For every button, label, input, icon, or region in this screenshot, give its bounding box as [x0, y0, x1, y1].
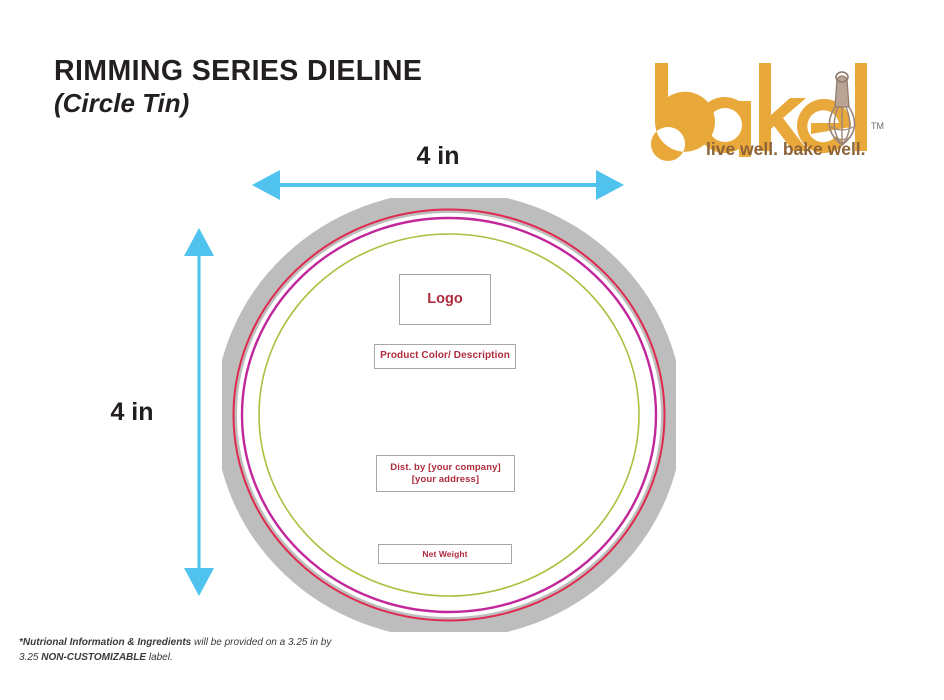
trademark-symbol: TM — [871, 121, 884, 131]
net-weight-box[interactable]: Net Weight — [378, 544, 512, 564]
title-block: RIMMING SERIES DIELINE (Circle Tin) — [54, 56, 514, 119]
footnote: *Nutrional Information & Ingredients wil… — [19, 636, 349, 665]
whisk-icon — [829, 72, 854, 145]
page-subtitle: (Circle Tin) — [54, 89, 514, 119]
product-description-label: Product Color/ Description — [380, 350, 510, 363]
net-weight-label: Net Weight — [422, 549, 467, 560]
logo-placeholder-label: Logo — [427, 290, 462, 308]
footnote-text-1: will be provided on a — [191, 637, 285, 648]
distributor-box[interactable]: Dist. by [your company] [your address] — [376, 455, 515, 492]
dieline-circle — [222, 198, 676, 632]
bakell-logo: live well. bake well. TM — [641, 55, 893, 165]
distributor-line-2: [your address] — [412, 474, 479, 485]
product-description-box[interactable]: Product Color/ Description — [374, 344, 516, 369]
footnote-bold-1: Nutrional Information & Ingredients — [23, 637, 191, 648]
logo-tagline: live well. bake well. — [706, 139, 866, 159]
outer-ring — [226, 202, 672, 628]
footnote-bold-2: NON-CUSTOMIZABLE — [41, 652, 146, 663]
distributor-line-1: Dist. by [your company] — [390, 462, 501, 473]
width-dimension-arrow — [250, 168, 626, 202]
dieline-page: RIMMING SERIES DIELINE (Circle Tin) — [0, 0, 944, 700]
logo-placeholder-box[interactable]: Logo — [399, 274, 491, 325]
page-title: RIMMING SERIES DIELINE — [54, 56, 514, 88]
distributor-text: Dist. by [your company] [your address] — [390, 462, 501, 486]
height-dimension-label: 4 in — [96, 226, 168, 598]
footnote-text-3: label. — [146, 652, 173, 663]
width-dimension-label: 4 in — [250, 142, 626, 171]
height-dimension-arrow — [182, 226, 216, 598]
